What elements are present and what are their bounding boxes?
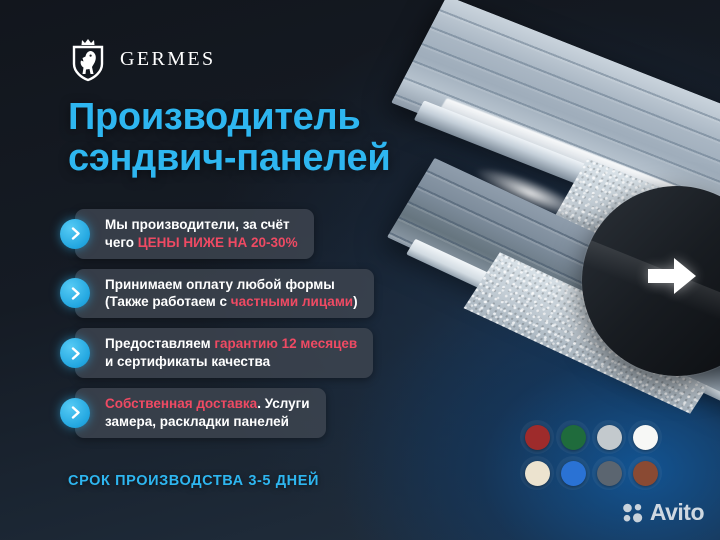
swatch-dot — [525, 425, 550, 450]
swatch-dot — [561, 425, 586, 450]
list-item: Собственная доставка. Услуги замера, рас… — [60, 388, 374, 438]
swatch-dot — [525, 461, 550, 486]
swatch-dot — [633, 425, 658, 450]
benefit-text: Предоставляем гарантию 12 месяцев и серт… — [75, 328, 373, 378]
benefit-line-2-highlight: частными лицами — [231, 294, 353, 309]
benefit-list: Мы производители, за счёт чего ЦЕНЫ НИЖЕ… — [60, 209, 374, 448]
benefit-line-2: и сертификаты качества — [105, 353, 357, 371]
color-swatch-green[interactable] — [556, 420, 590, 454]
chevron-right-icon — [60, 219, 90, 249]
chevron-right-icon — [60, 398, 90, 428]
list-item: Мы производители, за счёт чего ЦЕНЫ НИЖЕ… — [60, 209, 374, 259]
production-term-label: СРОК ПРОИЗВОДСТВА 3-5 ДНЕЙ — [68, 473, 319, 489]
benefit-line-2-plain: (Также работаем с — [105, 294, 231, 309]
benefit-line-1: Предоставляем гарантию 12 месяцев — [105, 335, 357, 353]
benefit-line-1: Принимаем оплату любой формы — [105, 276, 358, 294]
page-title: Производитель сэндвич-панелей — [68, 97, 390, 179]
brand-name: GERMES — [120, 48, 216, 71]
avito-wordmark: Avito — [650, 499, 704, 526]
benefit-line-2-highlight: ЦЕНЫ НИЖЕ НА 20-30% — [138, 235, 298, 250]
benefit-line-1-tail: . Услуги — [257, 396, 309, 411]
benefit-line-2: (Также работаем с частными лицами) — [105, 293, 358, 311]
benefit-line-1-highlight: гарантию 12 месяцев — [214, 336, 357, 351]
promo-banner: GERMES Производитель сэндвич-панелей Мы … — [0, 0, 720, 540]
benefit-text: Принимаем оплату любой формы (Также рабо… — [75, 269, 374, 319]
panel-specular-glint — [469, 158, 590, 227]
benefit-line-2-plain: чего — [105, 235, 138, 250]
list-item: Предоставляем гарантию 12 месяцев и серт… — [60, 328, 374, 378]
title-line-2: сэндвич-панелей — [68, 138, 390, 179]
color-swatch-gray[interactable] — [592, 456, 626, 490]
color-swatch-cream[interactable] — [520, 456, 554, 490]
benefit-text: Собственная доставка. Услуги замера, рас… — [75, 388, 326, 438]
avito-dots-icon — [622, 503, 644, 523]
color-swatch-blue[interactable] — [556, 456, 590, 490]
chevron-right-icon — [60, 338, 90, 368]
swatch-dot — [561, 461, 586, 486]
arrow-right-icon — [646, 256, 698, 296]
swatch-dot — [633, 461, 658, 486]
benefit-line-1: Собственная доставка. Услуги — [105, 395, 310, 413]
benefit-line-2: замера, раскладки панелей — [105, 413, 310, 431]
title-line-1: Производитель — [68, 96, 360, 138]
benefit-line-2-tail: ) — [353, 294, 358, 309]
color-swatch-grid — [520, 420, 662, 490]
benefit-line-1-highlight: Собственная доставка — [105, 396, 257, 411]
swatch-dot — [597, 425, 622, 450]
benefit-line-1-plain: Предоставляем — [105, 336, 214, 351]
brand-logo: GERMES — [68, 36, 216, 82]
benefit-line-2: чего ЦЕНЫ НИЖЕ НА 20-30% — [105, 234, 298, 252]
benefit-line-1: Мы производители, за счёт — [105, 216, 298, 234]
color-swatch-brown[interactable] — [628, 456, 662, 490]
shield-lion-crown-icon — [68, 36, 108, 82]
color-swatch-white[interactable] — [628, 420, 662, 454]
list-item: Принимаем оплату любой формы (Также рабо… — [60, 269, 374, 319]
color-swatch-light-gray[interactable] — [592, 420, 626, 454]
swatch-dot — [597, 461, 622, 486]
color-swatch-red[interactable] — [520, 420, 554, 454]
benefit-text: Мы производители, за счёт чего ЦЕНЫ НИЖЕ… — [75, 209, 314, 259]
avito-watermark: Avito — [622, 499, 704, 526]
